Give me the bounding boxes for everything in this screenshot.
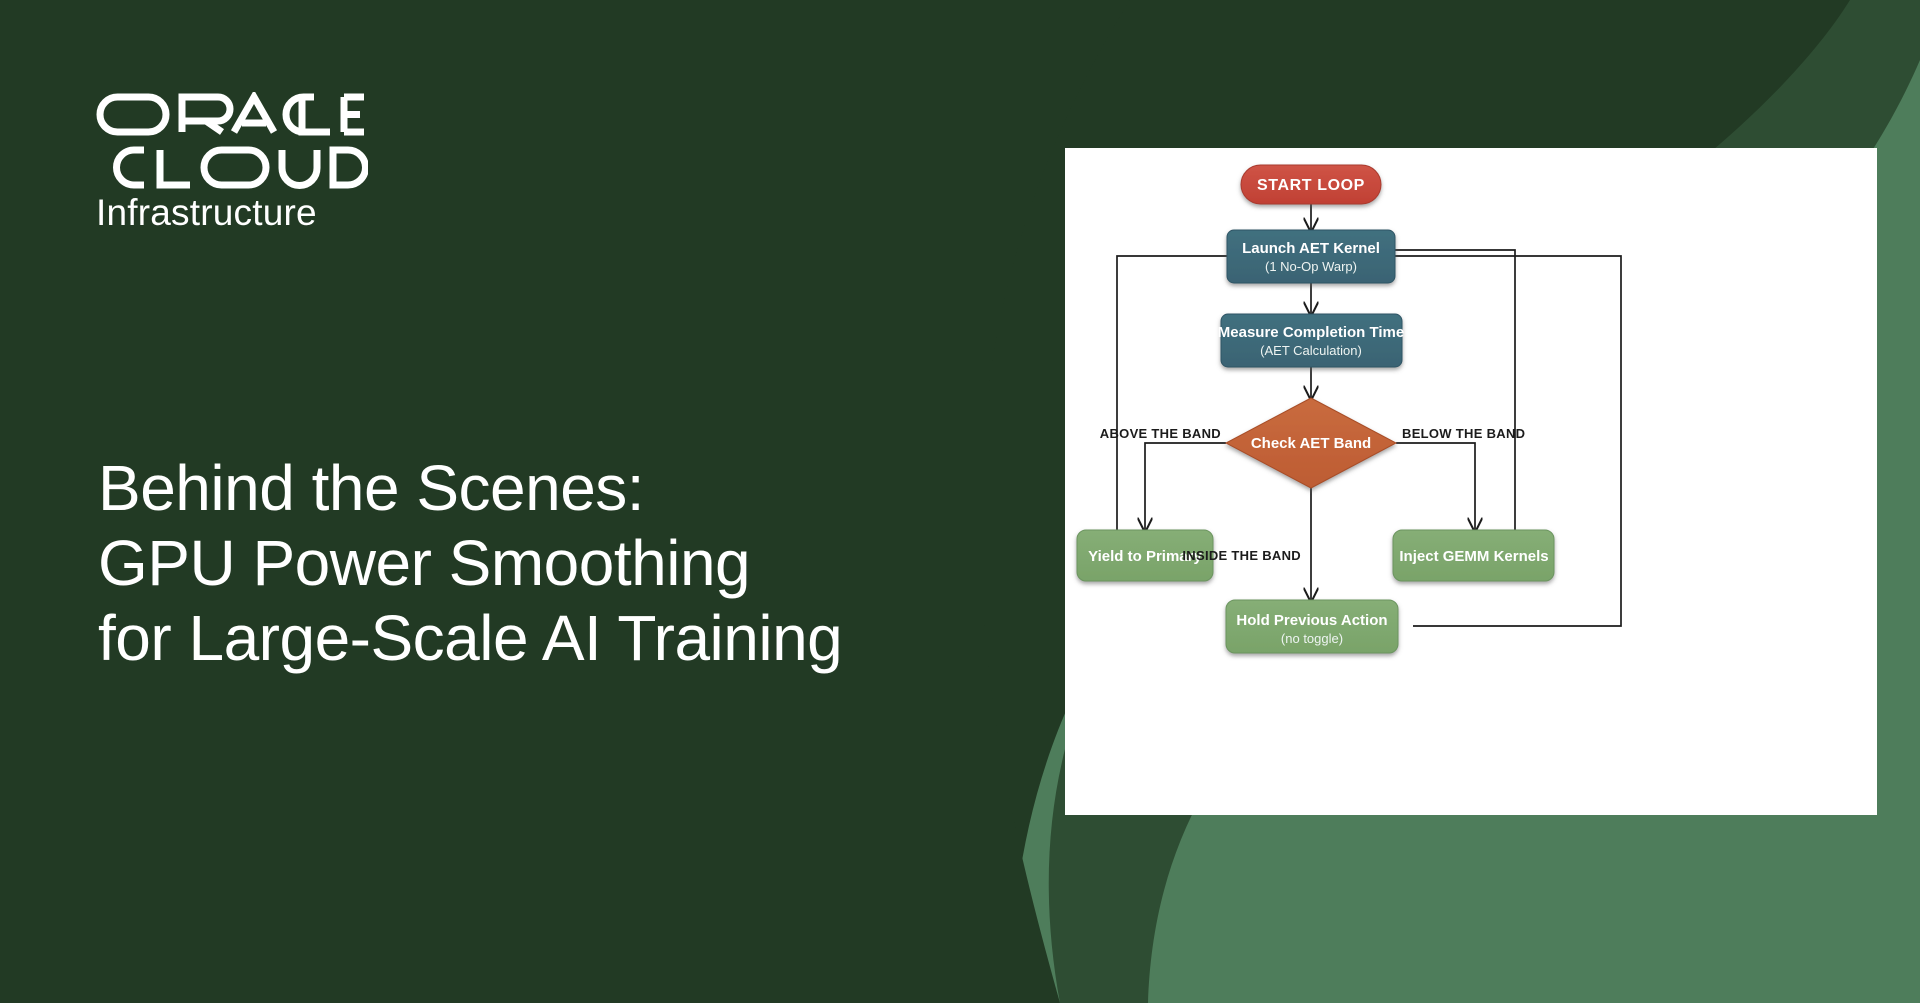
node-start-loop-label: START LOOP bbox=[1257, 177, 1365, 194]
node-launch-aet-kernel-label: Launch AET Kernel bbox=[1242, 240, 1380, 257]
page-title: Behind the Scenes: GPU Power Smoothing f… bbox=[98, 451, 1058, 676]
flowchart: START LOOP Launch AET Kernel (1 No-Op Wa… bbox=[1065, 148, 1877, 815]
node-inject-gemm-kernels-label: Inject GEMM Kernels bbox=[1399, 548, 1548, 565]
node-measure-completion-time-sublabel: (AET Calculation) bbox=[1260, 343, 1362, 358]
headline-line-1: Behind the Scenes: bbox=[98, 451, 1058, 526]
edge-check-to-yield bbox=[1145, 443, 1226, 530]
headline-line-2: GPU Power Smoothing bbox=[98, 526, 1058, 601]
node-hold-previous-action-label: Hold Previous Action bbox=[1236, 612, 1387, 629]
node-launch-aet-kernel-sublabel: (1 No-Op Warp) bbox=[1265, 259, 1357, 274]
edge-check-to-inject bbox=[1396, 443, 1475, 530]
logo-subtitle: Infrastructure bbox=[96, 194, 396, 233]
diagram-panel: START LOOP Launch AET Kernel (1 No-Op Wa… bbox=[1065, 148, 1877, 815]
edge-label-inside-the-band: INSIDE THE BAND bbox=[1182, 548, 1301, 563]
oracle-cloud-logo: Infrastructure bbox=[96, 92, 396, 233]
node-check-aet-band-label: Check AET Band bbox=[1251, 435, 1371, 452]
node-hold-previous-action-sublabel: (no toggle) bbox=[1281, 631, 1343, 646]
oracle-cloud-wordmark bbox=[96, 92, 368, 190]
headline-line-3: for Large-Scale AI Training bbox=[98, 601, 1058, 676]
edge-yield-to-launch bbox=[1117, 256, 1265, 530]
edge-label-below-the-band: BELOW THE BAND bbox=[1402, 426, 1525, 441]
slide-canvas: Infrastructure Behind the Scenes: GPU Po… bbox=[0, 0, 1920, 1003]
edge-inject-to-launch bbox=[1361, 250, 1515, 530]
node-measure-completion-time-label: Measure Completion Time bbox=[1218, 324, 1404, 341]
edge-label-above-the-band: ABOVE THE BAND bbox=[1100, 426, 1221, 441]
